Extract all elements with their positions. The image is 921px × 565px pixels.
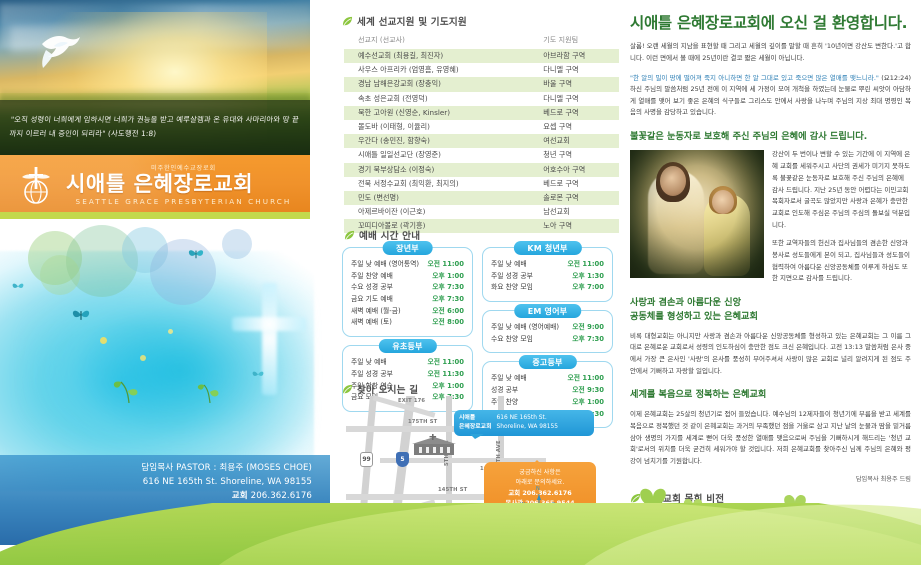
church-name-korean: 시애틀 은혜장로교회 bbox=[66, 172, 301, 196]
mission-field-cell: 예수선교회 (최용길, 최진자) bbox=[344, 49, 533, 63]
service-time: 오전 9:00 bbox=[568, 322, 604, 334]
light-dot-icon bbox=[168, 329, 173, 334]
butterfly-icon bbox=[188, 247, 204, 261]
callout-church-phone-label: 교회 bbox=[508, 489, 520, 497]
church-phone-value: 206.362.6176 bbox=[251, 491, 312, 501]
service-time: 오후 1:00 bbox=[428, 271, 464, 283]
service-time: 오전 6:00 bbox=[428, 306, 464, 318]
directions-section-header: 찾아 오시는 길 bbox=[342, 382, 418, 396]
mission-field-cell: 전북 서정수교회 (최익환, 최지의) bbox=[344, 177, 533, 191]
church-building-icon bbox=[408, 434, 458, 456]
church-phone-line: 교회 206.362.6176 bbox=[0, 490, 312, 504]
service-time: 오전 11:00 bbox=[423, 259, 464, 271]
services-section-title: 예배 시간 안내 bbox=[359, 228, 420, 242]
missions-table-header-row: 선교지 (선교사) 기도 지원팀 bbox=[344, 33, 619, 49]
butterfly-icon bbox=[72, 307, 90, 323]
jesus-and-child-photo bbox=[630, 150, 764, 278]
pastor-line: 담임목사 PASTOR : 최용주 (MOSES CHOE) bbox=[0, 462, 312, 476]
bottom-green-hill bbox=[0, 503, 921, 565]
service-time-row: 금요 기도 예배오후 7:30 bbox=[351, 294, 464, 306]
callout-info-line1: 궁금하신 사항은 bbox=[490, 468, 590, 478]
callout-address-line1: 616 NE 165th St. bbox=[497, 414, 559, 423]
paragraph-community: 비록 대형교회는 아니지만 사랑과 겸손과 아름다운 신앙공동체를 형성하고 있… bbox=[630, 331, 911, 377]
missions-table: 선교지 (선교사) 기도 지원팀 예수선교회 (최용길, 최진자)아브라함 구역… bbox=[344, 33, 619, 233]
service-time: 오전 11:30 bbox=[423, 369, 464, 381]
church-emblem-icon bbox=[16, 165, 56, 205]
light-dot-icon bbox=[140, 355, 146, 361]
service-name: 주일 낮 예배 bbox=[491, 373, 527, 385]
mission-field-cell: 시애틀 일일선교단 (장영준) bbox=[344, 148, 533, 162]
map-label-145th-st: 145TH ST bbox=[438, 487, 467, 493]
leaf-bullet-icon bbox=[342, 384, 353, 395]
subheading-world-gospel: 세계를 복음으로 정복하는 은혜교회 bbox=[630, 388, 911, 401]
service-time-row: 새벽 예배 (토)오전 8:00 bbox=[351, 317, 464, 329]
service-time-row: 수요 성경 공부오후 7:30 bbox=[351, 282, 464, 294]
missions-section-header: 세계 선교지원 및 기도지원 bbox=[342, 14, 620, 28]
dove-icon bbox=[34, 28, 82, 70]
butterfly-icon bbox=[12, 281, 24, 292]
scripture-quote-paragraph: "한 알의 밀이 땅에 떨어져 죽지 아니하면 한 알 그대로 있고 죽으면 많… bbox=[630, 73, 911, 119]
callout-address-line2: Shoreline, WA 98155 bbox=[497, 423, 559, 432]
service-name: 주일 낮 예배 (영어통역) bbox=[351, 259, 419, 271]
missions-table-row: 우간다 (송민진, 함향숙)여선교회 bbox=[344, 134, 619, 148]
service-card: EM 영어부주일 낮 예배 (영어예배)오전 9:00수요 찬양 모임오후 7:… bbox=[482, 310, 613, 353]
mission-prayer-team-cell: 다니엘 구역 bbox=[533, 63, 619, 77]
logo-underline-bar bbox=[0, 212, 310, 219]
butterfly-icon bbox=[252, 369, 264, 380]
service-time: 오후 7:30 bbox=[568, 334, 604, 346]
leaf-bullet-icon bbox=[342, 16, 353, 27]
mission-field-cell: 경기 북부상담소 (이정숙) bbox=[344, 163, 533, 177]
service-time: 오전 11:00 bbox=[423, 357, 464, 369]
scripture-quote-text: "한 알의 밀이 땅에 떨어져 죽지 아니하면 한 알 그대로 있고 죽으면 많… bbox=[630, 74, 879, 82]
service-time: 오전 11:00 bbox=[563, 373, 604, 385]
mission-prayer-team-cell: 아브라함 구역 bbox=[533, 49, 619, 63]
pastor-signature: 담임목사 최용주 드림 bbox=[630, 474, 911, 483]
intro-paragraph: 살롬! 오랜 세월의 지남을 표현할 때 그리고 세월의 깊이를 말할 때 흔히… bbox=[630, 41, 911, 64]
mission-prayer-team-cell: 베드로 구역 bbox=[533, 177, 619, 191]
service-card-title: 유초등부 bbox=[378, 339, 436, 353]
map-shield-us99: 99 bbox=[360, 452, 373, 467]
callout-info-line2: 아래로 문의하세요. bbox=[490, 478, 590, 488]
service-time-row: 주일 낮 예배오전 11:00 bbox=[491, 373, 604, 385]
mission-field-cell: 몰도바 (이태형, 이율리) bbox=[344, 120, 533, 134]
service-name: 주일 성경 공부 bbox=[491, 271, 533, 283]
service-name: 금요 기도 예배 bbox=[351, 294, 393, 306]
service-card-title: 중고등부 bbox=[518, 355, 576, 369]
service-name: 화요 찬양 모임 bbox=[491, 282, 533, 294]
map-label-exit-176: EXIT 176 bbox=[398, 398, 425, 404]
service-time: 오전 11:00 bbox=[563, 259, 604, 271]
service-name: 주일 낮 예배 bbox=[491, 259, 527, 271]
service-time: 오후 1:00 bbox=[428, 381, 464, 393]
missions-col-prayerteam: 기도 지원팀 bbox=[533, 33, 619, 49]
mission-prayer-team-cell: 청년 구역 bbox=[533, 148, 619, 162]
service-name: 주일 낮 예배 (영어예배) bbox=[491, 322, 559, 334]
missions-section-title: 세계 선교지원 및 기도지원 bbox=[357, 14, 467, 28]
paragraph-world-gospel: 이제 은혜교회는 25살의 청년기로 접어 들었습니다. 예수님의 12제자들이… bbox=[630, 409, 911, 467]
mission-field-cell: 아제르바이잔 (이근호) bbox=[344, 205, 533, 219]
scripture-quote-continued: 하신 주님의 말씀처럼 25년 전에 이 지역에 세 가정이 모여 개척을 하였… bbox=[630, 85, 911, 116]
mission-prayer-team-cell: 남선교회 bbox=[533, 205, 619, 219]
sprout-icon bbox=[112, 373, 146, 403]
service-card-title: 장년부 bbox=[382, 241, 433, 255]
service-card-title: KM 청년부 bbox=[513, 241, 581, 255]
scripture-text: "오직 성령이 너희에게 임하시면 너희가 권능을 받고 예루살렘과 온 유대와… bbox=[0, 113, 311, 142]
light-dot-icon bbox=[100, 337, 107, 344]
missions-table-row: 아제르바이잔 (이근호)남선교회 bbox=[344, 205, 619, 219]
service-time-row: 새벽 예배 (월-금)오전 6:00 bbox=[351, 306, 464, 318]
bubble-icon bbox=[222, 229, 252, 259]
service-time-row: 주일 낮 예배오전 11:00 bbox=[351, 357, 464, 369]
service-time-row: 주일 낮 예배 (영어통역)오전 11:00 bbox=[351, 259, 464, 271]
compass-north-label: N bbox=[536, 486, 540, 492]
service-time-row: 주일 낮 예배 (영어예배)오전 9:00 bbox=[491, 322, 604, 334]
right-panel: 시애틀 은혜장로교회에 오신 걸 환영합니다. 살롬! 오랜 세월의 지남을 표… bbox=[622, 0, 921, 545]
missions-table-row: 전북 서정수교회 (최익환, 최지의)베드로 구역 bbox=[344, 177, 619, 191]
bubble-icon bbox=[40, 255, 80, 295]
mission-field-cell: 우간다 (송민진, 함향숙) bbox=[344, 134, 533, 148]
missions-table-row: 사우스 아프리카 (엄영흠, 유영혜)다니엘 구역 bbox=[344, 63, 619, 77]
service-card: KM 청년부주일 낮 예배오전 11:00주일 성경 공부오후 1:30화요 찬… bbox=[482, 247, 613, 302]
service-time-row: 화요 찬양 모임오후 7:00 bbox=[491, 282, 604, 294]
missions-table-row: 속초 성은교회 (전영덕)다니엘 구역 bbox=[344, 92, 619, 106]
mission-prayer-team-cell: 요셉 구역 bbox=[533, 120, 619, 134]
mission-field-cell: 사우스 아프리카 (엄영흠, 유영혜) bbox=[344, 63, 533, 77]
directions-section-title: 찾아 오시는 길 bbox=[357, 382, 418, 396]
missions-table-row: 민도 (변선명)솔로몬 구역 bbox=[344, 191, 619, 205]
mission-field-cell: 북한 고아원 (신영순, Kinsler) bbox=[344, 106, 533, 120]
address-line: 616 NE 165th St. Shoreline, WA 98155 bbox=[0, 476, 312, 490]
service-name: 새벽 예배 (월-금) bbox=[351, 306, 401, 318]
mission-prayer-team-cell: 여선교회 bbox=[533, 134, 619, 148]
service-time-row: 주일 성경 공부오전 11:30 bbox=[351, 369, 464, 381]
service-time-row: 주일 성경 공부오후 1:30 bbox=[491, 271, 604, 283]
callout-church-name: 시애틀 은혜장로교회 bbox=[459, 414, 492, 431]
logo-text-group: 미주한인예수교장로회 시애틀 은혜장로교회 SEATTLE GRACE PRES… bbox=[66, 163, 301, 206]
service-time: 오전 8:00 bbox=[428, 317, 464, 329]
subheading-grace-thanks: 불꽃같은 눈동자로 보호해 주신 주님의 은혜에 감사 드립니다. bbox=[630, 130, 911, 143]
service-time-row: 주일 찬양 예배오후 1:00 bbox=[351, 271, 464, 283]
service-time: 오후 7:30 bbox=[428, 294, 464, 306]
middle-panel: 세계 선교지원 및 기도지원 선교지 (선교사) 기도 지원팀 예수선교회 (최… bbox=[332, 0, 620, 545]
sprout-icon bbox=[196, 377, 224, 403]
service-time: 오후 7:00 bbox=[568, 282, 604, 294]
mission-field-cell: 경남 남해은강교회 (장충익) bbox=[344, 77, 533, 91]
service-name: 새벽 예배 (토) bbox=[351, 317, 392, 329]
missions-table-row: 예수선교회 (최용길, 최진자)아브라함 구역 bbox=[344, 49, 619, 63]
church-logo-band: 미주한인예수교장로회 시애틀 은혜장로교회 SEATTLE GRACE PRES… bbox=[0, 155, 310, 212]
service-time-row: 주일 낮 예배오전 11:00 bbox=[491, 259, 604, 271]
missions-table-row: 북한 고아원 (신영순, Kinsler)베드로 구역 bbox=[344, 106, 619, 120]
service-name: 주일 성경 공부 bbox=[351, 369, 393, 381]
cross-icon bbox=[232, 283, 306, 395]
mission-prayer-team-cell: 어호수아 구역 bbox=[533, 163, 619, 177]
church-location-callout: 시애틀 은혜장로교회 616 NE 165th St. Shoreline, W… bbox=[454, 410, 594, 436]
welcome-heading: 시애틀 은혜장로교회에 오신 걸 환영합니다. bbox=[630, 14, 911, 33]
map-label-175th-st: 175TH ST bbox=[408, 419, 437, 425]
mission-field-cell: 민도 (변선명) bbox=[344, 191, 533, 205]
mission-prayer-team-cell: 솔로몬 구역 bbox=[533, 191, 619, 205]
service-card-title: EM 영어부 bbox=[514, 304, 582, 318]
service-time: 오후 1:30 bbox=[568, 271, 604, 283]
service-time-row: 수요 찬양 모임오후 7:30 bbox=[491, 334, 604, 346]
church-phone-label: 교회 bbox=[232, 491, 248, 501]
scripture-banner: "오직 성령이 너희에게 임하시면 너희가 권능을 받고 예루살렘과 온 유대와… bbox=[0, 100, 310, 155]
services-section-header: 예배 시간 안내 bbox=[344, 228, 614, 242]
missions-table-row: 몰도바 (이태형, 이율리)요셉 구역 bbox=[344, 120, 619, 134]
missions-table-row: 경남 남해은강교회 (장충익)바울 구역 bbox=[344, 77, 619, 91]
mission-field-cell: 속초 성은교회 (전영덕) bbox=[344, 92, 533, 106]
missions-table-row: 시애틀 일일선교단 (장영준)청년 구역 bbox=[344, 148, 619, 162]
missions-col-field: 선교지 (선교사) bbox=[344, 33, 533, 49]
left-panel: "오직 성령이 너희에게 임하시면 너희가 권능을 받고 예루살렘과 온 유대와… bbox=[0, 0, 330, 545]
service-time: 오후 7:30 bbox=[428, 282, 464, 294]
brochure-page: "오직 성령이 너희에게 임하시면 너희가 권능을 받고 예루살렘과 온 유대와… bbox=[0, 0, 921, 565]
mission-prayer-team-cell: 베드로 구역 bbox=[533, 106, 619, 120]
scripture-quote-ref: (요12:24) bbox=[881, 74, 911, 82]
service-name: 주일 낮 예배 bbox=[351, 357, 387, 369]
subheading-community: 사랑과 겸손과 아름다운 신앙 공동체를 형성하고 있는 은혜교회 bbox=[630, 296, 911, 323]
photo-vignette bbox=[630, 150, 764, 278]
church-name-english: SEATTLE GRACE PRESBYTERIAN CHURCH bbox=[66, 197, 301, 206]
mission-prayer-team-cell: 바울 구역 bbox=[533, 77, 619, 91]
mission-prayer-team-cell: 다니엘 구역 bbox=[533, 92, 619, 106]
service-name: 수요 성경 공부 bbox=[351, 282, 393, 294]
service-card: 장년부주일 낮 예배 (영어통역)오전 11:00주일 찬양 예배오후 1:00… bbox=[342, 247, 473, 337]
service-name: 수요 찬양 모임 bbox=[491, 334, 533, 346]
leaf-bullet-icon bbox=[344, 230, 355, 241]
missions-table-row: 경기 북부상담소 (이정숙)어호수아 구역 bbox=[344, 163, 619, 177]
service-name: 주일 찬양 예배 bbox=[351, 271, 393, 283]
denomination-label: 미주한인예수교장로회 bbox=[66, 163, 301, 172]
bubble-icon bbox=[150, 239, 216, 305]
